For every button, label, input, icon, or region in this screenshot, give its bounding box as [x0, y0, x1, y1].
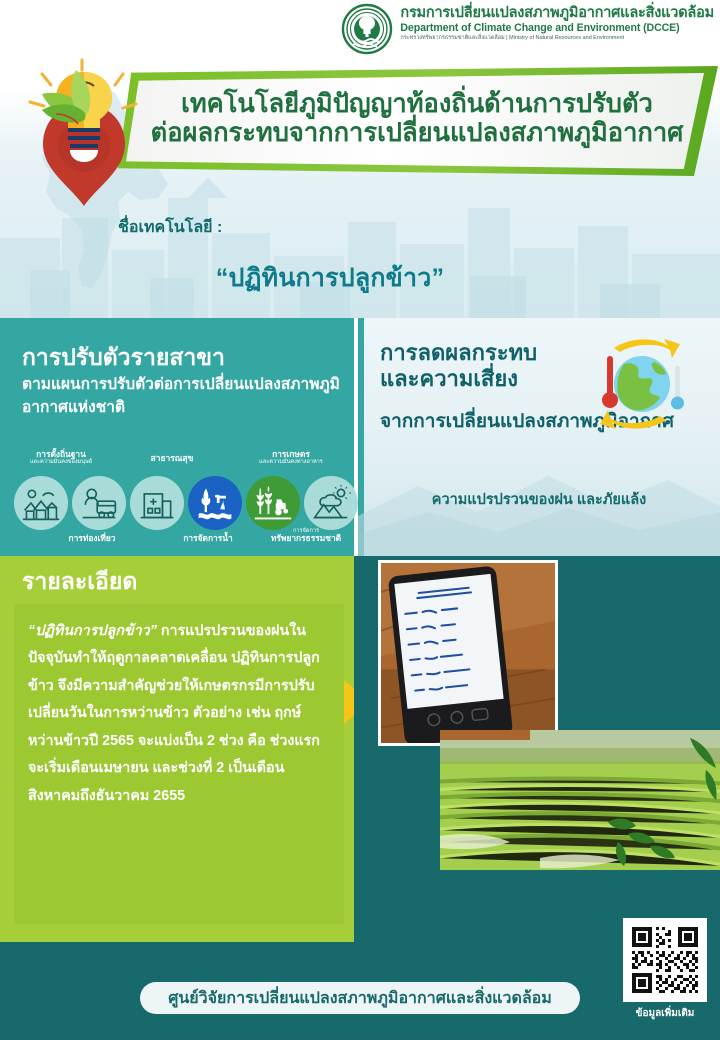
qr-code-card[interactable] — [623, 918, 707, 1002]
hospital-icon — [137, 483, 177, 523]
media-column: สถานที่ : ศูนย์เรียนรู้ชีวิตพอเพียง ต.อ่… — [354, 556, 720, 942]
department-name-en: Department of Climate Change and Environ… — [400, 22, 714, 35]
tree-seal-icon — [341, 3, 393, 55]
sector-panel-heading: การปรับตัวรายสาขา — [22, 340, 225, 376]
sector-icon-water[interactable] — [188, 476, 242, 530]
mitigation-heading-line2: และความเสี่ยง — [380, 366, 537, 392]
smartphone-calendar-photo — [381, 563, 555, 743]
mitigation-note: ความแปรปรวนของฝน และภัยแล้ง — [358, 488, 720, 511]
details-heading: รายละเอียด — [22, 564, 137, 600]
sector-panel-subheading: ตามแผนการปรับตัวต่อการเปลี่ยนแปลงสภาพภูม… — [22, 374, 342, 420]
mitigation-heading: การลดผลกระทบ และความเสี่ยง — [380, 340, 537, 393]
sector-icon-natural-resources[interactable] — [304, 476, 358, 530]
footer-organization-label: ศูนย์วิจัยการเปลี่ยนแปลงสภาพภูมิอากาศและ… — [168, 986, 552, 1011]
technology-name: “ปฏิทินการปลูกข้าว” — [0, 258, 660, 298]
sector-icon-settlement[interactable] — [14, 476, 68, 530]
sector-caption-settlement: การตั้งถิ่นฐาน และความมั่นคงของมนุษย์ — [6, 450, 116, 466]
title-ribbon: เทคโนโลยีภูมิปัญญาท้องถิ่นด้านการปรับตัว… — [118, 66, 718, 176]
sector-caption-agriculture: การเกษตร และความมั่นคงทางอาหาร — [232, 450, 350, 466]
sector-caption-natural-resources: การจัดการ ทรัพยากรธรรมชาติ — [256, 528, 356, 544]
qr-code-icon — [628, 923, 702, 997]
thermometer-cold-icon — [671, 366, 684, 410]
sector-caption-water: การจัดการน้ำ — [158, 534, 258, 543]
technology-label: ชื่อเทคโนโลยี : — [118, 215, 222, 240]
sector-caption-tourism: การท่องเที่ยว — [42, 534, 142, 543]
rice-tractor-icon — [253, 483, 293, 523]
details-body-text: การแปรปรวนของฝนในปัจจุบันทำให้ฤดูกาลคลาด… — [28, 623, 320, 804]
details-panel: รายละเอียด “ปฏิทินการปลูกข้าว” การแปรปรว… — [0, 556, 354, 942]
poster-title-line2: ต่อผลกระทบจากการเปลี่ยนแปลงสภาพภูมิอากาศ — [151, 119, 684, 148]
sector-icon-health[interactable] — [130, 476, 184, 530]
details-quote: “ปฏิทินการปลูกข้าว” — [28, 623, 157, 639]
sector-caption-health: สาธารณสุข — [122, 454, 222, 463]
hero-section: กรมการเปลี่ยนแปลงสภาพภูมิอากาศและสิ่งแวด… — [0, 0, 720, 318]
sector-icon-tourism[interactable] — [72, 476, 126, 530]
department-name-th: กรมการเปลี่ยนแปลงสภาพภูมิอากาศและสิ่งแวด… — [400, 6, 714, 22]
ministry-name: กระทรวงทรัพยากรธรรมชาติและสิ่งแวดล้อม | … — [400, 35, 714, 42]
globe-thermometer-icon — [580, 332, 698, 436]
mitigation-panel: การลดผลกระทบ และความเสี่ยง จากการเปลี่ยน… — [358, 318, 720, 556]
mountain-cloud-icon — [311, 483, 351, 523]
rice-paddy-photo — [440, 730, 720, 870]
sector-icon-agriculture[interactable] — [246, 476, 300, 530]
sector-icon-row: การตั้งถิ่นฐาน และความมั่นคงของมนุษย์ สา… — [6, 456, 354, 552]
qr-caption: ข้อมูลเพิ่มเติม — [619, 1006, 711, 1021]
phone-photo — [378, 560, 558, 746]
map-pin-lightbulb-leaf-icon — [20, 58, 148, 210]
poster: กรมการเปลี่ยนแปลงสภาพภูมิอากาศและสิ่งแวด… — [0, 0, 720, 1040]
tourism-bus-icon — [79, 483, 119, 523]
water-tap-icon — [195, 483, 235, 523]
field-photo — [440, 730, 720, 870]
village-house-icon — [21, 483, 61, 523]
footer-organization-pill[interactable]: ศูนย์วิจัยการเปลี่ยนแปลงสภาพภูมิอากาศและ… — [140, 982, 580, 1014]
ribbon-white-face: เทคโนโลยีภูมิปัญญาท้องถิ่นด้านการปรับตัว… — [126, 73, 704, 169]
details-text-box: “ปฏิทินการปลูกข้าว” การแปรปรวนของฝนในปัจ… — [14, 604, 344, 924]
poster-title-line1: เทคโนโลยีภูมิปัญญาท้องถิ่นด้านการปรับตัว — [181, 90, 653, 119]
details-body: “ปฏิทินการปลูกข้าว” การแปรปรวนของฝนในปัจ… — [28, 618, 330, 810]
department-logo-block: กรมการเปลี่ยนแปลงสภาพภูมิอากาศและสิ่งแวด… — [341, 3, 714, 55]
mitigation-heading-line1: การลดผลกระทบ — [380, 340, 537, 366]
sector-adaptation-panel: การปรับตัวรายสาขา ตามแผนการปรับตัวต่อการ… — [0, 318, 354, 556]
